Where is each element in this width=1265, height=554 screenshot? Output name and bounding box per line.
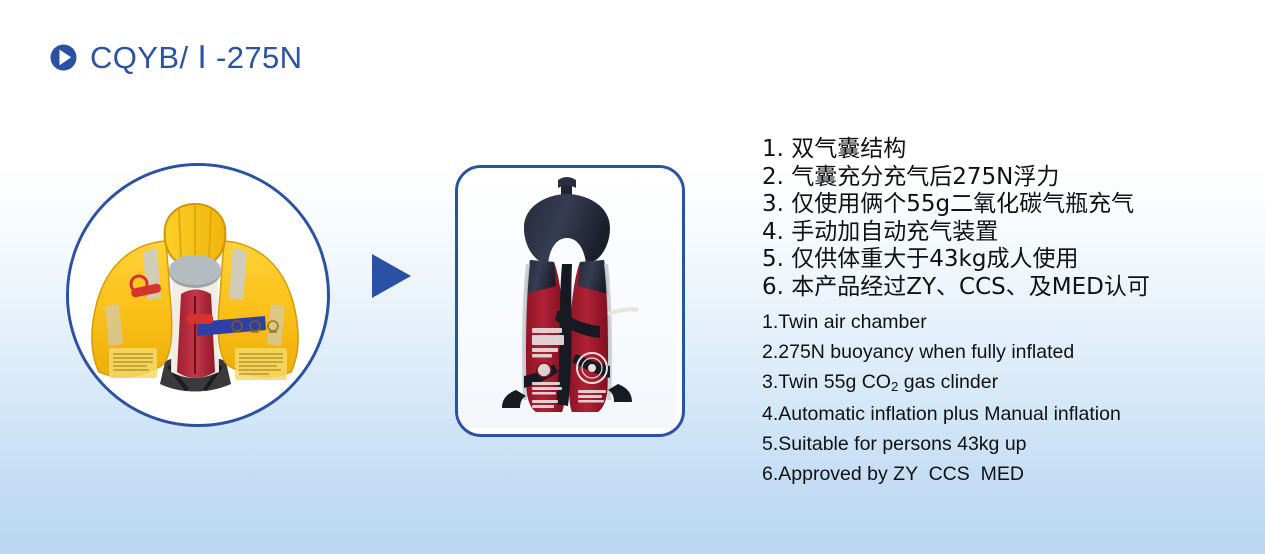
co2-prefix: 3.Twin 55g CO [762,371,891,393]
product-photo-uninflated [455,165,685,437]
inflated-lifejacket-illustration [69,166,321,418]
product-photo-inflated [66,163,330,427]
feature-list-english: 1.Twin air chamber 2.275N buoyancy when … [762,307,1242,489]
triangle-right-icon [368,252,414,300]
feature-item-cn-4: 4. 手动加自动充气装置 [762,219,1242,247]
feature-list: 1. 双气囊结构 2. 气囊充分充气后275N浮力 3. 仅使用俩个55g二氧化… [762,136,1242,489]
feature-item-en-6: 6.Approved by ZY CCS MED [762,459,1242,489]
feature-list-chinese: 1. 双气囊结构 2. 气囊充分充气后275N浮力 3. 仅使用俩个55g二氧化… [762,136,1242,301]
page-title-row: CQYB/ Ⅰ -275N [50,42,302,73]
feature-item-cn-3: 3. 仅使用俩个55g二氧化碳气瓶充气 [762,191,1242,219]
page-title: CQYB/ Ⅰ -275N [90,42,302,73]
co2-suffix: gas clinder [898,371,998,393]
feature-item-en-1: 1.Twin air chamber [762,307,1242,337]
feature-item-cn-1: 1. 双气囊结构 [762,136,1242,164]
feature-item-cn-6: 6. 本产品经过ZY、CCS、及MED认可 [762,274,1242,302]
uninflated-lifejacket-illustration [458,168,676,428]
co2-subscript: 2 [891,379,898,394]
play-circle-icon [50,44,77,71]
feature-item-cn-2: 2. 气囊充分充气后275N浮力 [762,164,1242,192]
feature-item-en-5: 5.Suitable for persons 43kg up [762,429,1242,459]
feature-item-en-3: 3.Twin 55g CO2 gas clinder [762,367,1242,399]
feature-item-en-4: 4.Automatic inflation plus Manual inflat… [762,399,1242,429]
feature-item-cn-5: 5. 仅供体重大于43kg成人使用 [762,246,1242,274]
feature-item-en-2: 2.275N buoyancy when fully inflated [762,337,1242,367]
